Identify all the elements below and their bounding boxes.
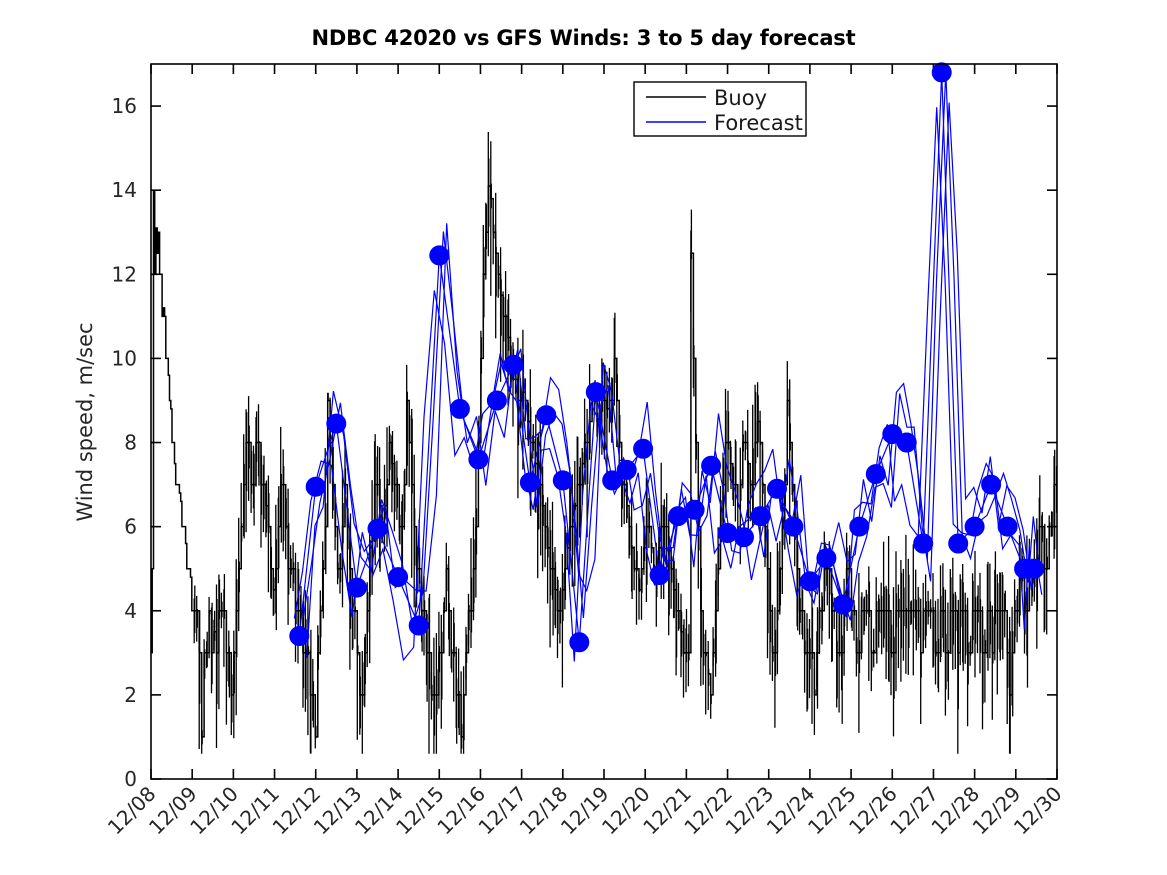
y-tick-label-8: 16 [112,94,137,118]
forecast-marker [768,479,787,498]
data-series-group [151,72,1057,753]
forecast-marker [718,524,737,543]
legend-label-buoy: Buoy [714,86,767,110]
forecast-marker [751,507,770,526]
forecast-marker [650,566,669,585]
forecast-marker [685,500,704,519]
forecast-marker [409,616,428,635]
y-tick-label-0: 0 [124,767,137,791]
forecast-marker [504,355,523,374]
chart-plot-area: 0246810121416 12/0812/0912/1012/1112/121… [0,0,1167,875]
y-tick-label-4: 8 [124,431,137,455]
forecast-marker [368,519,387,538]
x-tick-label-22: 12/30 [1009,782,1067,840]
forecast-marker [450,399,469,418]
y-tick-label-6: 12 [112,262,137,286]
forecast-marker [389,568,408,587]
forecast-marker [586,383,605,402]
y-tick-label-1: 2 [124,683,137,707]
forecast-marker [784,517,803,536]
forecast-marker [1025,559,1044,578]
forecast-marker [487,391,506,410]
forecast-marker [949,534,968,553]
forecast-marker [735,528,754,547]
forecast-marker [850,517,869,536]
y-tick-label-2: 4 [124,599,137,623]
forecast-marker [634,439,653,458]
forecast-marker [617,460,636,479]
forecast-marker [327,414,346,433]
forecast-marker [817,549,836,568]
y-tick-label-7: 14 [112,178,137,202]
forecast-marker [800,572,819,591]
forecast-marker [702,456,721,475]
legend-label-forecast: Forecast [714,111,803,135]
forecast-marker [537,406,556,425]
forecast-marker [998,517,1017,536]
forecast-marker [965,517,984,536]
forecast-marker [430,246,449,265]
forecast-marker [570,633,589,652]
y-tick-label-3: 6 [124,515,137,539]
forecast-marker [914,534,933,553]
chart-figure: NDBC 42020 vs GFS Winds: 3 to 5 day fore… [0,0,1167,875]
forecast-marker [520,473,539,492]
y-axis-label: Wind speed, m/sec [73,322,97,521]
forecast-marker [932,63,951,82]
forecast-marker [833,595,852,614]
y-tick-label-5: 10 [112,346,137,370]
forecast-marker [347,578,366,597]
forecast-marker [897,433,916,452]
forecast-marker [553,471,572,490]
forecast-marker [306,477,325,496]
forecast-marker [866,465,885,484]
forecast-marker [982,475,1001,494]
forecast-marker [290,627,309,646]
forecast-marker [469,450,488,469]
chart-legend[interactable]: Buoy Forecast [634,82,806,136]
